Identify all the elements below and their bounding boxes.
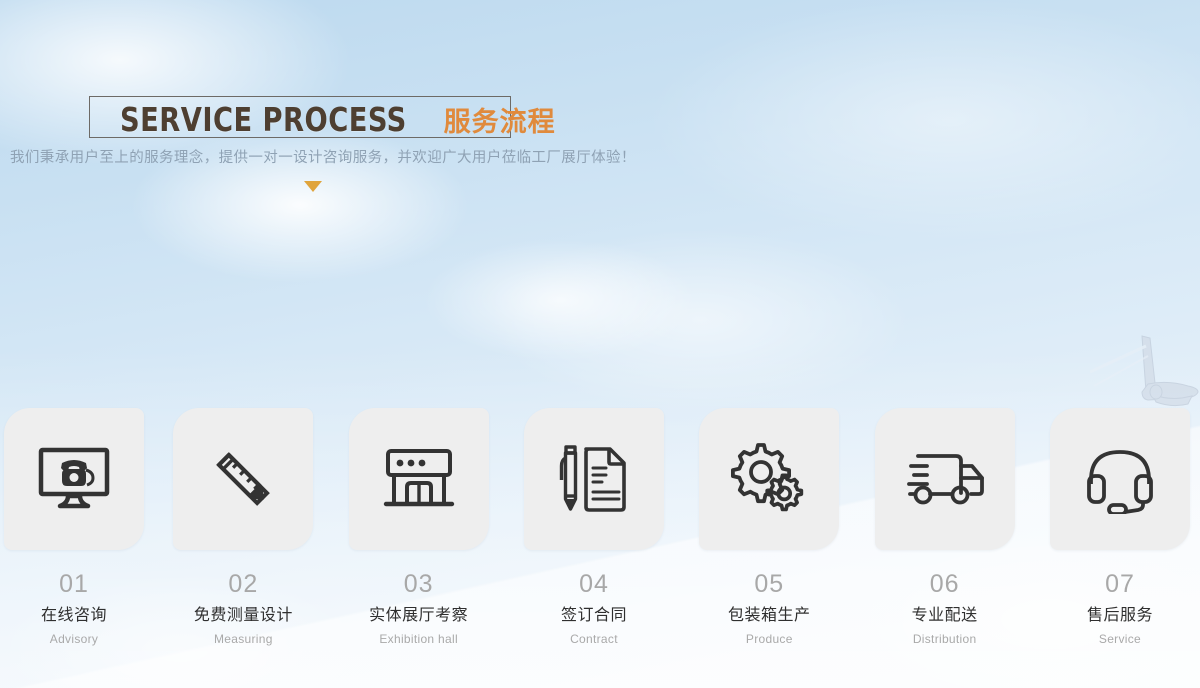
step-label-cn: 签订合同 [561, 608, 627, 624]
ruler-pencil-icon [208, 444, 278, 514]
step-icon-card-01[interactable] [4, 408, 144, 550]
step-icon-card-03[interactable] [349, 408, 489, 550]
pen-document-icon [558, 444, 630, 514]
step-icon-card-07[interactable] [1050, 408, 1190, 550]
page-title-cn: 服务流程 [444, 109, 556, 136]
step-label-en: Exhibition hall [379, 633, 458, 645]
step-item-07[interactable]: 07 售后服务 Service [1040, 408, 1200, 645]
step-label-en: Service [1099, 633, 1141, 645]
step-number: 01 [59, 572, 89, 597]
step-label-cn: 实体展厅考察 [369, 608, 468, 624]
storefront-icon [383, 447, 455, 511]
step-number: 07 [1105, 572, 1135, 597]
triangle-down-icon [304, 181, 322, 192]
service-process-steps: 01 在线咨询 Advisory [0, 408, 1200, 645]
step-label-cn: 包装箱生产 [728, 608, 811, 624]
step-label-en: Contract [570, 633, 618, 645]
gears-icon [731, 443, 807, 515]
step-item-05[interactable]: 05 包装箱生产 Produce [689, 408, 849, 645]
page-subtitle: 我们秉承用户至上的服务理念，提供一对一设计咨询服务，并欢迎广大用户莅临工厂展厅体… [10, 146, 636, 167]
step-icon-card-06[interactable] [875, 408, 1015, 550]
monitor-phone-icon [37, 446, 111, 512]
step-number: 03 [404, 572, 434, 597]
step-item-02[interactable]: 02 免费测量设计 Measuring [163, 408, 323, 645]
step-label-en: Measuring [214, 633, 273, 645]
step-icon-card-04[interactable] [524, 408, 664, 550]
step-item-01[interactable]: 01 在线咨询 Advisory [0, 408, 148, 645]
step-label-en: Distribution [913, 633, 977, 645]
step-label-cn: 免费测量设计 [194, 608, 293, 624]
page-title-en: SERVICE PROCESS [120, 103, 407, 136]
step-number: 05 [754, 572, 784, 597]
step-number: 06 [930, 572, 960, 597]
step-number: 04 [579, 572, 609, 597]
step-label-en: Advisory [50, 633, 98, 645]
delivery-truck-icon [904, 448, 986, 510]
step-label-en: Produce [746, 633, 793, 645]
step-item-03[interactable]: 03 实体展厅考察 Exhibition hall [339, 408, 499, 645]
step-label-cn: 售后服务 [1087, 608, 1153, 624]
step-icon-card-02[interactable] [173, 408, 313, 550]
headset-icon [1083, 444, 1157, 514]
step-number: 02 [228, 572, 258, 597]
step-label-cn: 在线咨询 [41, 608, 107, 624]
step-icon-card-05[interactable] [699, 408, 839, 550]
page-title: SERVICE PROCESS 服务流程 [110, 103, 566, 136]
step-item-04[interactable]: 04 签订合同 Contract [514, 408, 674, 645]
step-item-06[interactable]: 06 专业配送 Distribution [865, 408, 1025, 645]
step-label-cn: 专业配送 [912, 608, 978, 624]
